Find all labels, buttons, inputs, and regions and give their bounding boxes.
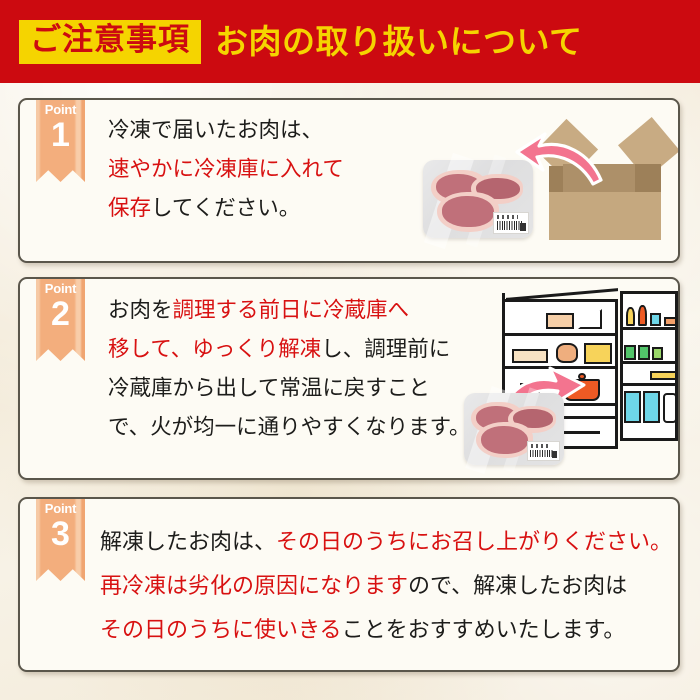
text-run: その日のうちにお召し上がりください。 [276, 530, 672, 555]
point-3-line-3: その日のうちに使いきることをおすすめいたします。 [100, 609, 672, 653]
point-1-line-3: 保存してください。 [108, 189, 344, 228]
text-run: 冷凍で届いたお肉は、 [108, 118, 323, 143]
text-run: 調理する前日に冷蔵庫へ [173, 298, 410, 323]
barcode-dots [497, 215, 518, 219]
point-badge-word-3: Point [45, 502, 77, 515]
fridge-shelf-1 [505, 333, 615, 336]
barcode-label [493, 212, 529, 234]
text-run: し、調理前に [321, 337, 450, 362]
point-text-2: お肉を調理する前日に冷蔵庫へ 移して、ゆっくり解凍し、調理前に 冷蔵庫から出して… [108, 291, 471, 447]
point-card-1: Point 1 冷凍で届いたお肉は、 速やかに冷凍庫に入れて 保存してください。 [18, 98, 680, 263]
point-2-line-4: で、火が均一に通りやすくなります。 [108, 408, 471, 447]
barcode-square [552, 451, 558, 458]
barcode-dots [531, 444, 550, 448]
text-run: で、火が均一に通りやすくなります。 [108, 415, 471, 440]
text-run: お肉を [108, 298, 173, 323]
door-item-milk-carton-2 [643, 391, 660, 423]
header-badge: ご注意事項 [19, 20, 201, 64]
text-run: 再冷凍は劣化の原因になります [100, 574, 408, 599]
barcode-bars [497, 221, 522, 229]
door-item-water-bottle [663, 393, 677, 423]
point-badge-number-1: 1 [51, 118, 70, 152]
point-badge-3: Point 3 [36, 497, 85, 581]
point-badge-1: Point 1 [36, 98, 85, 182]
fridge-item-peach-box [546, 313, 574, 329]
point-2-line-1: お肉を調理する前日に冷蔵庫へ [108, 291, 471, 330]
point-3-line-2: 再冷凍は劣化の原因になりますので、解凍したお肉は [100, 565, 672, 609]
door-item-yellow-bottle [626, 307, 635, 326]
fridge-door-shelf-3 [622, 383, 676, 386]
point-text-3: 解凍したお肉は、その日のうちにお召し上がりください。 再冷凍は劣化の原因になりま… [100, 521, 672, 653]
door-item-orange-bottle [638, 305, 647, 326]
point-2-line-3: 冷蔵庫から出して常温に戻すこと [108, 369, 471, 408]
page-header: ご注意事項 お肉の取り扱いについて [0, 0, 700, 83]
door-item-milk-carton-1 [624, 391, 641, 423]
text-run: 速やかに冷凍庫に入れて [108, 157, 344, 182]
text-run: その日のうちに使いきる [100, 618, 342, 643]
illustration-point-2 [460, 285, 680, 480]
door-item-green-carton-3 [652, 347, 663, 360]
door-item-cyan-jar [650, 313, 661, 326]
fridge-item-tray [512, 349, 548, 363]
header-badge-label: ご注意事項 [30, 25, 190, 56]
page-root: ご注意事項 お肉の取り扱いについて Point 1 冷凍で届いたお肉は、 速やか… [0, 0, 700, 700]
fridge-top-left-edge [502, 293, 505, 305]
fridge-door-shelf-2 [622, 361, 676, 364]
page-title: お肉の取り扱いについて [215, 25, 583, 58]
meat-lean-3 [481, 426, 528, 454]
point-2-line-2: 移して、ゆっくり解凍し、調理前に [108, 330, 471, 369]
point-card-2: Point 2 お肉を調理する前日に冷蔵庫へ 移して、ゆっくり解凍し、調理前に … [18, 277, 680, 480]
text-run: 解凍したお肉は、 [100, 530, 276, 555]
meat-tray-icon [464, 393, 564, 465]
text-run: 移して、ゆっくり解凍 [108, 337, 321, 362]
fridge-item-jar [556, 343, 578, 363]
point-1-line-2: 速やかに冷凍庫に入れて [108, 150, 344, 189]
point-badge-number-3: 3 [51, 517, 70, 551]
illustration-point-1 [415, 108, 680, 258]
door-item-green-carton-2 [638, 345, 650, 360]
point-text-1: 冷凍で届いたお肉は、 速やかに冷凍庫に入れて 保存してください。 [108, 111, 344, 228]
barcode-square [520, 223, 526, 231]
fridge-item-butter-box [584, 343, 612, 364]
meat-tray-icon [423, 160, 533, 238]
point-badge-number-2: 2 [51, 297, 70, 331]
door-item-green-carton-1 [624, 345, 636, 360]
point-1-line-1: 冷凍で届いたお肉は、 [108, 111, 344, 150]
point-card-3: Point 3 解凍したお肉は、その日のうちにお召し上がりください。 再冷凍は劣… [18, 497, 680, 672]
text-run: ことをおすすめいたします。 [342, 618, 626, 643]
meat-lean-3 [442, 196, 494, 227]
text-run: 冷蔵庫から出して常温に戻すこと [108, 376, 430, 401]
point-badge-word-2: Point [45, 282, 77, 295]
fridge-door-shelf-1 [622, 327, 676, 330]
text-run: ので、解凍したお肉は [408, 574, 627, 599]
door-item-yellow-tube [650, 371, 677, 380]
door-item-orange-box [664, 317, 677, 326]
point-badge-word-1: Point [45, 103, 77, 116]
barcode-bars [530, 450, 553, 458]
point-3-line-1: 解凍したお肉は、その日のうちにお召し上がりください。 [100, 521, 672, 565]
text-run: 保存 [108, 196, 151, 221]
point-badge-2: Point 2 [36, 277, 85, 361]
box-front-panel [549, 192, 661, 240]
text-run: してください。 [151, 196, 300, 221]
barcode-label [527, 441, 560, 461]
